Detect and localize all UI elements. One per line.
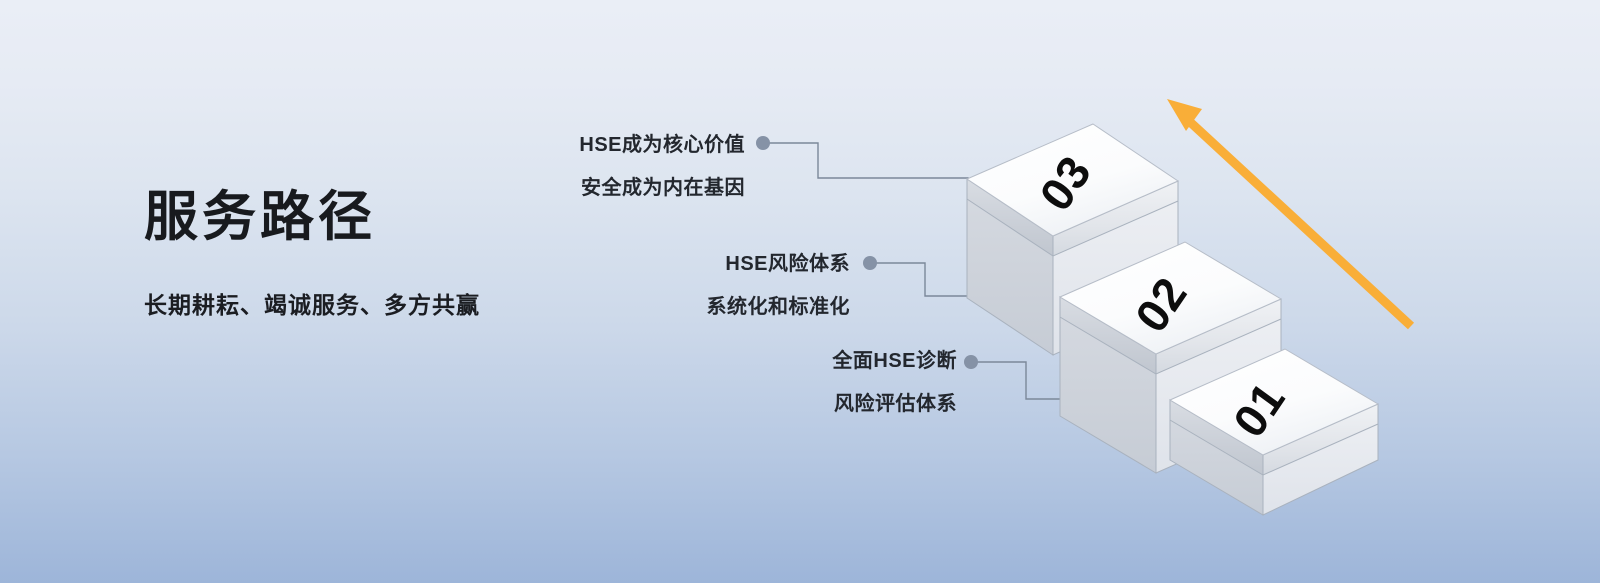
connector-line-03 bbox=[762, 143, 968, 178]
isometric-staircase-diagram: 03 02 01 bbox=[0, 0, 1600, 583]
connector-dot-01 bbox=[964, 355, 978, 369]
connector-dot-02 bbox=[863, 256, 877, 270]
connector-dots bbox=[756, 136, 978, 369]
connector-dot-03 bbox=[756, 136, 770, 150]
slide-canvas: 服务路径 长期耕耘、竭诚服务、多方共赢 HSE成为核心价值 安全成为内在基因 H… bbox=[0, 0, 1600, 583]
